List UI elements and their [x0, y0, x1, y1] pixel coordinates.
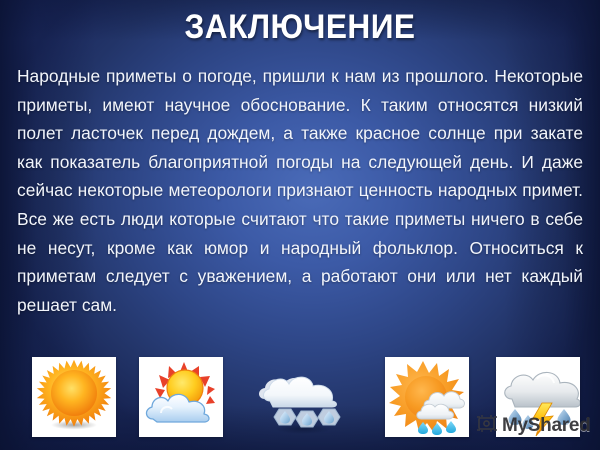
body-paragraph: Народные приметы о погоде, пришли к нам …: [17, 62, 583, 319]
partly-cloudy-icon-card: [139, 357, 223, 437]
sunny-icon-card: [32, 357, 116, 437]
sun-cloud-rain-icon-card: [385, 357, 469, 437]
sun-cloud-rain-icon: [385, 357, 469, 437]
myshared-logo-icon: [476, 414, 498, 439]
presentation-slide: ЗАКЛЮЧЕНИЕ Народные приметы о погоде, пр…: [0, 0, 600, 450]
page-title: ЗАКЛЮЧЕНИЕ: [21, 8, 579, 47]
myshared-watermark: MyShared: [476, 412, 590, 440]
cloudy-rain-icon: [253, 357, 348, 437]
sunny-icon: [32, 357, 116, 437]
myshared-watermark-label: MyShared: [502, 415, 590, 437]
partly-cloudy-icon: [139, 357, 223, 437]
cloudy-rain-icon-card: [253, 357, 348, 437]
